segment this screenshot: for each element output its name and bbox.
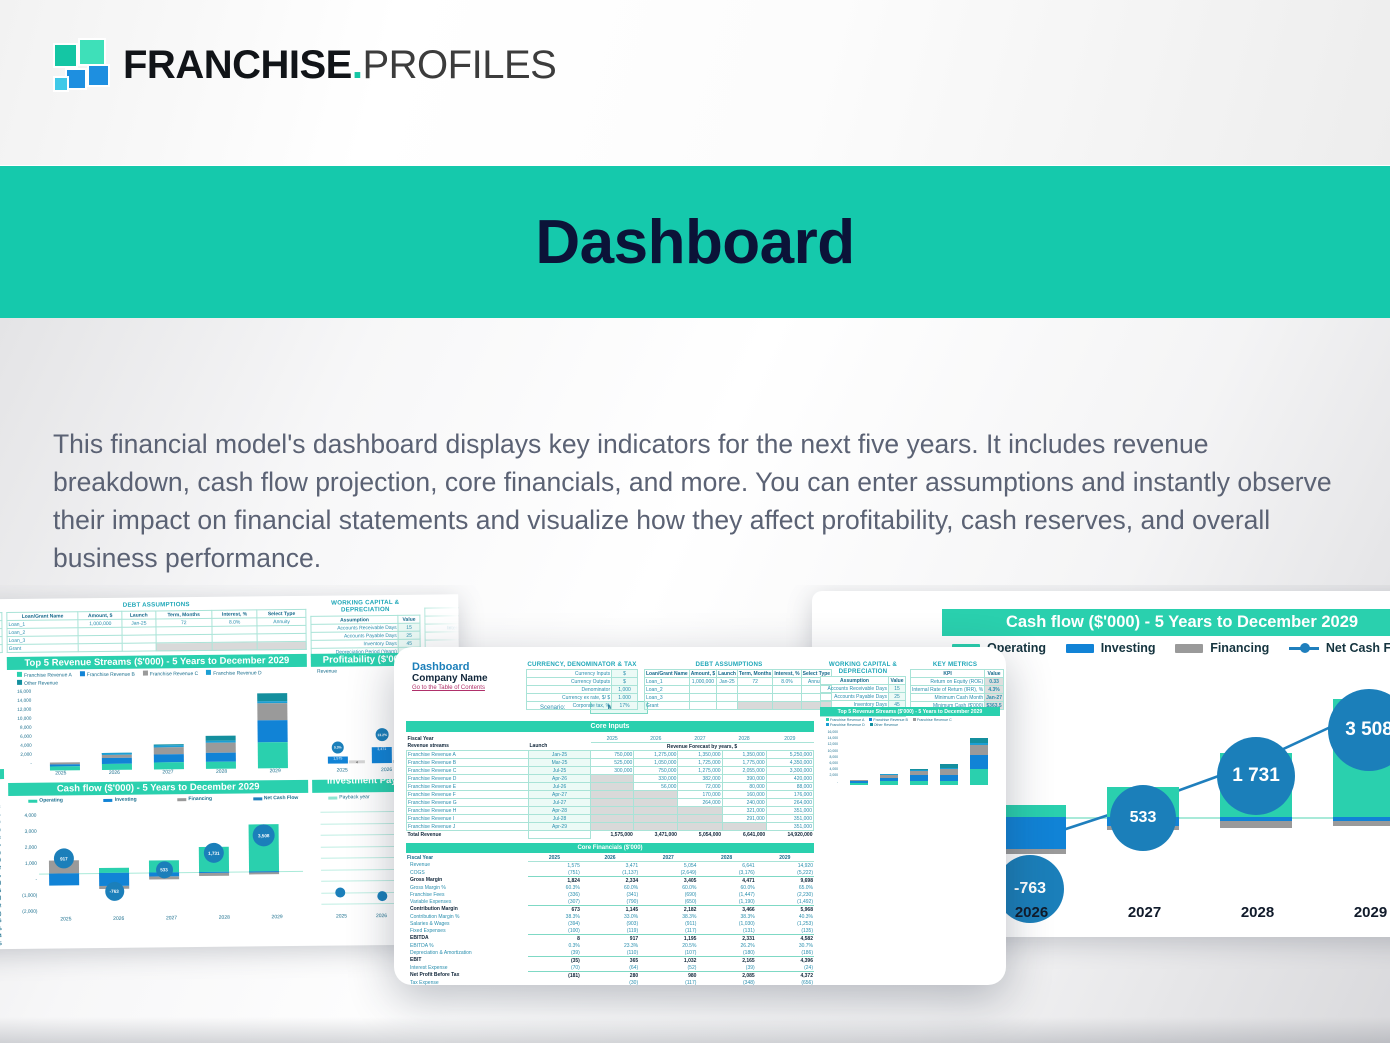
center-revenue-legend-label: Franchise Revenue B [873, 718, 908, 722]
left-cashflow-legend-item: Financing [177, 796, 212, 802]
core-financials-label: EBIT [406, 957, 528, 965]
slide-root: FRANCHISE.PROFILES Dashboard This financ… [0, 0, 1390, 1043]
center-revenue-streams-chart: Top 5 Revenue Streams ($'000) - 5 Years … [820, 707, 1000, 793]
revenue-stream-value: 1,350,000 [722, 751, 766, 759]
core-financials-value: 673 [528, 906, 581, 914]
left-spreadsheet-panel[interactable]: & TAX $$1,0001,00015% DEBT ASSUMPTIONS L… [0, 594, 462, 949]
core-financials-fiscal-header: Fiscal Year [406, 854, 528, 862]
revenue-stream-name: Franchise Revenue A [407, 751, 529, 759]
currency-value: $ [612, 670, 638, 678]
center-debt-header-cell: Term, Months [737, 670, 772, 678]
core-financials-label: Contribution Margin [406, 906, 528, 914]
legend-investing-swatch [1066, 644, 1094, 653]
center-debt-header-cell: Amount, $ [689, 670, 716, 678]
center-debt-cell: Loan_2 [645, 686, 690, 694]
core-financials-value: (64) [581, 964, 639, 972]
center-debt-cell: Grant [645, 702, 690, 710]
revenue-stream-value: 321,000 [722, 807, 766, 815]
center-debt-block: DEBT ASSUMPTIONS Loan/Grant NameAmount, … [644, 661, 814, 710]
revenue-stream-value [591, 791, 634, 799]
left-revenue-legend-label: Franchise Revenue C [150, 671, 198, 678]
left-profitability-pct-bubble: 0.3% [332, 741, 344, 753]
currency-row: Currency ex rate, $/ $1.000 [527, 694, 638, 702]
left-revenue-legend-swatch [17, 680, 22, 685]
core-financials-value: (341) [581, 891, 639, 898]
left-payback-point [335, 887, 345, 897]
left-revenue-bar-segment [258, 742, 288, 769]
core-inputs-year-2025: 2025 [591, 735, 634, 743]
left-payback-xtick: 2025 [321, 913, 361, 919]
total-revenue-label: Total Revenue [407, 831, 529, 839]
table-of-contents-link[interactable]: Go to the Table of Contents [412, 685, 485, 691]
center-km-value: 4.3% [985, 686, 1004, 694]
revenue-stream-value: 300,000 [591, 767, 634, 775]
core-inputs-fiscal-row: Fiscal Year 2025 2026 2027 2028 2029 [407, 735, 814, 743]
left-profitability-xtick: 2025 [320, 767, 364, 773]
center-debt-heading: DEBT ASSUMPTIONS [644, 661, 814, 668]
left-revenue-bar [206, 735, 236, 769]
revenue-row: Franchise Revenue IJul-28291,000351,000 [407, 815, 814, 823]
left-tax-value: 15% [0, 645, 2, 654]
revenue-stream-value [591, 807, 634, 815]
core-financials-label: Gross Margin % [406, 884, 528, 891]
left-cashflow-ytick: 3,000 [9, 825, 37, 841]
left-revenue-legend-swatch [143, 671, 148, 676]
page-header: FRANCHISE.PROFILES [0, 0, 1390, 165]
cashflow-xaxis-label: 2029 [1323, 904, 1390, 921]
fiscal-year-label: Fiscal Year [407, 735, 529, 743]
center-debt-header-cell: Loan/Grant Name [645, 670, 690, 678]
core-financials-value: (751) [528, 869, 581, 877]
revenue-stream-name: Franchise Revenue J [407, 823, 529, 831]
left-debt-block: DEBT ASSUMPTIONS Loan/Grant NameAmount, … [6, 600, 307, 653]
core-financials-value: 38.3% [528, 913, 581, 920]
center-debt-cell: Loan_1 [645, 678, 690, 686]
left-tax-heading: & TAX [0, 603, 2, 611]
left-revenue-ytick: 4,000 [8, 741, 32, 750]
revenue-stream-launch: Jul-26 [529, 783, 591, 791]
left-cashflow-value-bubble: 1,731 [204, 843, 224, 863]
center-km-label: Return on Equity (ROE) [911, 678, 985, 686]
center-debt-cell [737, 694, 772, 702]
left-cashflow-legend-item: Net Cash Flow [253, 795, 299, 801]
currency-value: 17% [612, 702, 638, 710]
center-revenue-legend-swatch [870, 723, 873, 726]
currency-block: CURRENCY, DENOMINATOR & TAX Currency Inp… [526, 661, 638, 710]
core-financials-value: (307) [528, 898, 581, 906]
left-revenue-xtick: 2025 [34, 770, 88, 777]
left-revenue-bar-segment [206, 743, 236, 754]
core-financials-label: Variable Expenses [406, 898, 528, 906]
core-financials-value: (100) [528, 927, 581, 935]
left-revenue-bar-segment [154, 754, 184, 763]
left-revenue-ytick: 14,000 [7, 696, 31, 705]
revenue-row: Franchise Revenue BMar-25525,0001,050,00… [407, 759, 814, 767]
center-debt-header-row: Loan/Grant NameAmount, $LaunchTerm, Mont… [645, 670, 832, 678]
center-debt-cell [773, 694, 801, 702]
left-cashflow-legend-label: Operating [39, 797, 63, 803]
core-financials-value: (903) [581, 920, 639, 927]
left-debt-cell [79, 643, 123, 651]
core-financials-label: Gross Margin [406, 877, 528, 885]
cashflow-chart-legend: Operating Investing Financing Net Cash F… [942, 639, 1390, 657]
left-debt-cell [212, 642, 257, 650]
core-financials-value: (336) [528, 891, 581, 898]
left-revenue-chart-title: Top 5 Revenue Streams ($'000) - 5 Years … [7, 654, 307, 670]
total-revenue-value: 6,641,000 [722, 831, 766, 839]
logo-squares-icon [55, 40, 107, 90]
center-cashflow-chart [640, 843, 812, 983]
screenshot-collage: & TAX $$1,0001,00015% DEBT ASSUMPTIONS L… [0, 585, 1390, 1043]
revenue-stream-value: 264,000 [766, 799, 813, 807]
center-debt-cell [773, 702, 801, 710]
left-cashflow-value-bubble: 533 [155, 861, 172, 878]
center-revenue-legend-swatch [826, 718, 829, 721]
revenue-stream-launch: Apr-28 [529, 807, 591, 815]
left-cashflow-ytick: (2,000) [9, 905, 37, 921]
left-payback-point [377, 891, 387, 901]
title-banner: Dashboard [0, 166, 1390, 318]
center-debt-row: Loan_11,000,000Jan-25728.0%Annuity [645, 678, 832, 686]
core-financials-label: Interest Expense [406, 964, 528, 972]
left-cashflow-bar-investing [49, 873, 79, 885]
left-core-financials-band [0, 769, 4, 780]
left-revenue-xtick: 2028 [195, 768, 249, 775]
left-profitability-ebitda-bar: 4 [349, 760, 365, 763]
left-revenue-xtick: 2029 [248, 768, 302, 775]
currency-row: Currency Outputs$ [527, 678, 638, 686]
left-tax-row: 15% [0, 645, 2, 654]
revenue-stream-value: 1,725,000 [678, 759, 722, 767]
left-cashflow-xtick: 2025 [40, 916, 93, 923]
center-revenue-legend-label: Franchise Revenue A [830, 718, 864, 722]
center-debt-cell [689, 702, 716, 710]
center-revenue-chart-title: Top 5 Revenue Streams ($'000) - 5 Years … [820, 707, 1000, 716]
revenue-stream-name: Franchise Revenue E [407, 783, 529, 791]
total-revenue-value: 14,920,000 [766, 831, 813, 839]
left-cashflow-xtick: 2028 [198, 914, 251, 921]
center-debt-cell [717, 686, 738, 694]
core-financials-value: 0.3% [528, 942, 581, 949]
left-revenue-legend-swatch [17, 672, 22, 677]
left-cashflow-ytick: - [9, 873, 37, 889]
left-cashflow-legend-swatch [177, 798, 186, 801]
revenue-stream-value [634, 815, 678, 823]
left-cashflow-legend-swatch [253, 797, 262, 800]
core-financials-label: COGS [406, 869, 528, 877]
currency-value: 1.000 [612, 694, 638, 702]
cashflow-xaxis-label: 2027 [1097, 904, 1192, 921]
core-inputs-band: Core Inputs [406, 721, 814, 732]
left-revenue-legend-item: Franchise Revenue B [80, 671, 135, 680]
revenue-stream-value [678, 823, 722, 831]
revenue-stream-value: 351,000 [766, 807, 813, 815]
left-revenue-ytick: 16,000 [7, 687, 31, 696]
center-km-row: Minimum Cash MonthJan-27 [911, 694, 1004, 702]
currency-rows: Currency Inputs$Currency Outputs$Denomin… [527, 670, 638, 710]
revenue-stream-value: 5,250,000 [766, 751, 813, 759]
revenue-stream-value: 351,000 [766, 823, 813, 831]
center-revenue-bar-segment [880, 781, 898, 785]
core-financials-label: EBITDA [406, 935, 528, 943]
center-wc-value: 15 [888, 685, 905, 693]
core-financials-value: (110) [581, 949, 639, 957]
revenue-stream-value [591, 823, 634, 831]
revenue-stream-launch: Jan-25 [529, 751, 591, 759]
core-financials-value: 23.3% [581, 942, 639, 949]
left-cashflow-bar-financing [249, 872, 279, 875]
left-core-financials-year: 2029 [0, 781, 4, 788]
dashboard-preview-card[interactable]: Dashboard Company Name Go to the Table o… [394, 647, 1006, 985]
left-wc-header-cell: Value [398, 615, 420, 623]
revenue-stream-value: 170,000 [678, 791, 722, 799]
core-financials-value: 2,334 [581, 877, 639, 885]
left-cashflow-legend-item: Operating [28, 797, 63, 803]
revenue-stream-value: 1,050,000 [634, 759, 678, 767]
center-wc-label: Accounts Payable Days [821, 693, 889, 701]
revenue-stream-value: 351,000 [766, 815, 813, 823]
left-revenue-ytick: 12,000 [7, 705, 31, 714]
logo-text-primary: FRANCHISE [123, 43, 352, 87]
center-wc-row: Accounts Receivable Days15 [821, 685, 906, 693]
left-revenue-ytick: 8,000 [7, 723, 31, 732]
core-financials-value: 33.0% [581, 913, 639, 920]
total-revenue-value: 1,575,000 [591, 831, 634, 839]
revenue-stream-value [634, 799, 678, 807]
revenue-stream-launch: Mar-25 [529, 759, 591, 767]
revenue-row: Franchise Revenue JApr-29351,000 [407, 823, 814, 831]
revenue-stream-value: 525,000 [591, 759, 634, 767]
center-km-block: KEY METRICS KPIValue Return on Equity (R… [910, 661, 1000, 710]
revenue-stream-name: Franchise Revenue I [407, 815, 529, 823]
legend-net-cash-flow-swatch [1289, 647, 1319, 650]
core-financials-year-header: 2025 [528, 854, 581, 862]
bar-financing [1220, 821, 1292, 828]
left-debt-rows: Loan_11,000,000Jan-25728.0%AnnuityLoan_2… [7, 617, 306, 652]
core-financials-label: EBITDA % [406, 942, 528, 949]
core-inputs-year-2029: 2029 [766, 735, 813, 743]
center-revenue-chart-legend: Franchise Revenue AFranchise Revenue BFr… [826, 718, 1000, 728]
core-financials-value: 60.0% [581, 884, 639, 891]
core-financials-value: (35) [528, 957, 581, 965]
revenue-stream-value: 3,300,000 [766, 767, 813, 775]
core-financials-value [528, 979, 581, 985]
cashflow-value-bubble: 1 731 [1217, 737, 1295, 815]
center-km-value: 0.33 [985, 678, 1004, 686]
left-core-financials-values: 14,920(5,222)9,69865.0%(2,230)(1,492)5,9… [0, 789, 6, 949]
revenue-stream-value: 176,000 [766, 791, 813, 799]
revenue-stream-value: 264,000 [678, 799, 722, 807]
revenue-stream-value [591, 775, 634, 783]
total-revenue-value: 5,054,000 [678, 831, 722, 839]
core-financials-value: (1,137) [581, 869, 639, 877]
revenue-stream-value [722, 823, 766, 831]
cashflow-xaxis-label: 2028 [1210, 904, 1305, 921]
left-cashflow-value-bubble: -763 [105, 882, 124, 901]
revenue-stream-value: 382,000 [678, 775, 722, 783]
revenue-stream-launch: Apr-26 [529, 775, 591, 783]
revenue-stream-value [678, 815, 722, 823]
cashflow-chart-plot: -7635331 7313 508 2026202720282029 [970, 677, 1390, 927]
center-revenue-bar [880, 774, 898, 785]
center-debt-header-cell: Launch [717, 670, 738, 678]
left-payback-legend-swatch [328, 796, 337, 799]
left-profitability-revenue-bar: 1,575 [328, 756, 348, 764]
center-km-rows: Return on Equity (ROE)0.33Internal Rate … [911, 678, 1004, 710]
left-cashflow-xaxis: 20252026202720282029 [40, 914, 304, 923]
revenue-row: Franchise Revenue FApr-27170,000160,0001… [407, 791, 814, 799]
currency-row: Currency Inputs$ [527, 670, 638, 678]
left-revenue-ytick: - [8, 759, 32, 768]
center-revenue-legend-label: Franchise Revenue C [917, 718, 952, 722]
left-cashflow-legend-item: Investing [104, 797, 137, 803]
core-financials-label: Contribution Margin % [406, 913, 528, 920]
center-wc-value: 25 [888, 693, 905, 701]
center-debt-cell: 8.0% [773, 678, 801, 686]
revenue-stream-value: 1,275,000 [678, 767, 722, 775]
left-cashflow-legend: OperatingInvestingFinancingNet Cash Flow [28, 795, 298, 804]
left-profitability-pct-bubble: 13.2% [376, 728, 389, 741]
legend-financing-label: Financing [1210, 641, 1269, 655]
brand-logo[interactable]: FRANCHISE.PROFILES [55, 40, 556, 90]
center-revenue-bar-segment [940, 781, 958, 785]
currency-label: Currency Inputs [527, 670, 612, 678]
revenue-stream-name: Franchise Revenue F [407, 791, 529, 799]
revenue-stream-value [634, 807, 678, 815]
left-revenue-legend-label: Franchise Revenue B [87, 672, 135, 679]
revenue-stream-value: 1,350,000 [678, 751, 722, 759]
left-debt-cell [257, 641, 306, 650]
left-revenue-bar-segment [257, 704, 287, 721]
left-revenue-ytick: 10,000 [7, 714, 31, 723]
center-km-heading: KEY METRICS [910, 661, 1000, 668]
left-cashflow-legend-label: Financing [188, 796, 212, 802]
revenue-row: Franchise Revenue DApr-26330,000382,0003… [407, 775, 814, 783]
bar-financing [1333, 821, 1390, 826]
currency-value: $ [612, 678, 638, 686]
core-financials-label: Fixed Expenses [406, 927, 528, 935]
left-payback-legend-item: Payback year [328, 794, 369, 800]
left-cashflow-value-bubble: 917 [54, 848, 74, 868]
left-revenue-legend-swatch [80, 671, 85, 676]
center-wc-label: Accounts Receivable Days [821, 685, 889, 693]
left-cashflow-legend-swatch [104, 798, 113, 801]
revenue-stream-name: Franchise Revenue G [407, 799, 529, 807]
core-financials-value: 60.3% [528, 884, 581, 891]
legend-financing: Financing [1175, 641, 1269, 655]
logo-text-secondary: PROFILES [362, 43, 556, 87]
revenue-stream-launch: Jul-28 [529, 815, 591, 823]
center-revenue-bar-segment [970, 769, 988, 785]
core-financials-value: (394) [528, 920, 581, 927]
center-revenue-legend-item: Franchise Revenue C [913, 718, 952, 723]
left-payback-legend-label: Payback year [339, 794, 369, 800]
logo-wordmark: FRANCHISE.PROFILES [123, 45, 556, 85]
currency-value: 1,000 [612, 686, 638, 694]
left-revenue-legend-item: Franchise Revenue D [206, 669, 261, 678]
core-financials-label: Tax Expense [406, 979, 528, 985]
center-revenue-bar-segment [970, 755, 988, 769]
center-debt-rows: Loan_11,000,000Jan-25728.0%AnnuityLoan_2… [645, 678, 832, 710]
center-km-label: Internal Rate of Return (IRR), % [911, 686, 985, 694]
left-cashflow-plot: 917-7635331,7313,508 [38, 808, 303, 915]
revenue-stream-value [591, 815, 634, 823]
center-revenue-legend-item: Other Revenue [870, 723, 898, 728]
core-inputs-year-2027: 2027 [678, 735, 722, 743]
left-revenue-bar [257, 693, 288, 768]
center-wc-header-row: AssumptionValue [821, 677, 906, 685]
center-revenue-legend-item: Franchise Revenue D [826, 723, 865, 728]
center-debt-row: Loan_2 [645, 686, 832, 694]
revenue-stream-value [678, 807, 722, 815]
revenue-stream-value: 750,000 [634, 767, 678, 775]
left-tax-strip: & TAX $$1,0001,00015% [0, 603, 3, 654]
left-cashflow-legend-label: Net Cash Flow [264, 795, 299, 801]
center-debt-row: Grant [645, 702, 832, 710]
currency-label: Corporate tax, % [527, 702, 612, 710]
core-financials-value: 917 [581, 935, 639, 943]
left-revenue-bar-segment [257, 720, 287, 742]
legend-net-cash-flow-label: Net Cash Flow [1326, 641, 1390, 655]
center-revenue-bar [970, 738, 988, 785]
center-revenue-legend-swatch [913, 718, 916, 721]
center-debt-cell: Loan_3 [645, 694, 690, 702]
core-financials-value: 365 [581, 957, 639, 965]
revenue-stream-value: 291,000 [722, 815, 766, 823]
left-core-financials-value: 5,925 [0, 941, 6, 949]
core-financials-label: Depreciation & Amortization [406, 949, 528, 957]
revenue-stream-launch: Apr-27 [529, 791, 591, 799]
left-wc-value: 15 [398, 623, 420, 631]
center-revenue-legend-label: Other Revenue [874, 723, 898, 727]
core-financials-value: (181) [528, 972, 581, 980]
logo-text-dot: . [352, 43, 363, 87]
core-financials-value: 280 [581, 972, 639, 980]
revenue-stream-name: Franchise Revenue C [407, 767, 529, 775]
cashflow-value-bubble: 533 [1110, 785, 1176, 851]
revenue-stream-value: 4,350,000 [766, 759, 813, 767]
revenue-row: Franchise Revenue EJul-2656,00072,00080,… [407, 783, 814, 791]
left-revenue-legend-label: Franchise Revenue D [213, 670, 261, 677]
revenue-stream-value [634, 823, 678, 831]
collage-bottom-shadow [0, 1017, 1390, 1043]
center-revenue-chart-yaxis: 16,00014,00012,00010,0008,0006,0004,0002… [820, 729, 838, 785]
total-revenue-spacer [529, 831, 591, 839]
core-financials-value: 8 [528, 935, 581, 943]
core-financials-label: Net Profit Before Tax [406, 972, 528, 980]
core-financials-value: (790) [581, 898, 639, 906]
center-debt-row: Loan_3 [645, 694, 832, 702]
center-wc-header-cell: Assumption [821, 677, 889, 685]
core-financials-year-header: 2026 [581, 854, 639, 862]
left-revenue-ytick: 6,000 [8, 732, 32, 741]
currency-label: Currency Outputs [527, 678, 612, 686]
left-profitability-revenue-bar: 3,471 [372, 747, 392, 763]
center-debt-cell [773, 686, 801, 694]
left-cashflow-value-bubble: 3,508 [253, 824, 275, 846]
center-debt-cell: Jan-25 [717, 678, 738, 686]
center-debt-cell: 72 [737, 678, 772, 686]
revenue-stream-value: 240,000 [722, 799, 766, 807]
revenue-stream-value: 1,775,000 [722, 759, 766, 767]
left-debt-cell: Grant [7, 644, 79, 653]
core-financials-label: Salaries & Wages [406, 920, 528, 927]
left-cashflow-chart-title: Cash flow ($'000) - 5 Years to December … [8, 780, 308, 796]
cashflow-chart-title: Cash flow ($'000) - 5 Years to December … [942, 609, 1390, 636]
revenue-rows: Franchise Revenue AJan-25750,0001,275,00… [407, 751, 814, 831]
center-debt-header-cell: Interest, % [773, 670, 801, 678]
center-debt-cell [689, 694, 716, 702]
